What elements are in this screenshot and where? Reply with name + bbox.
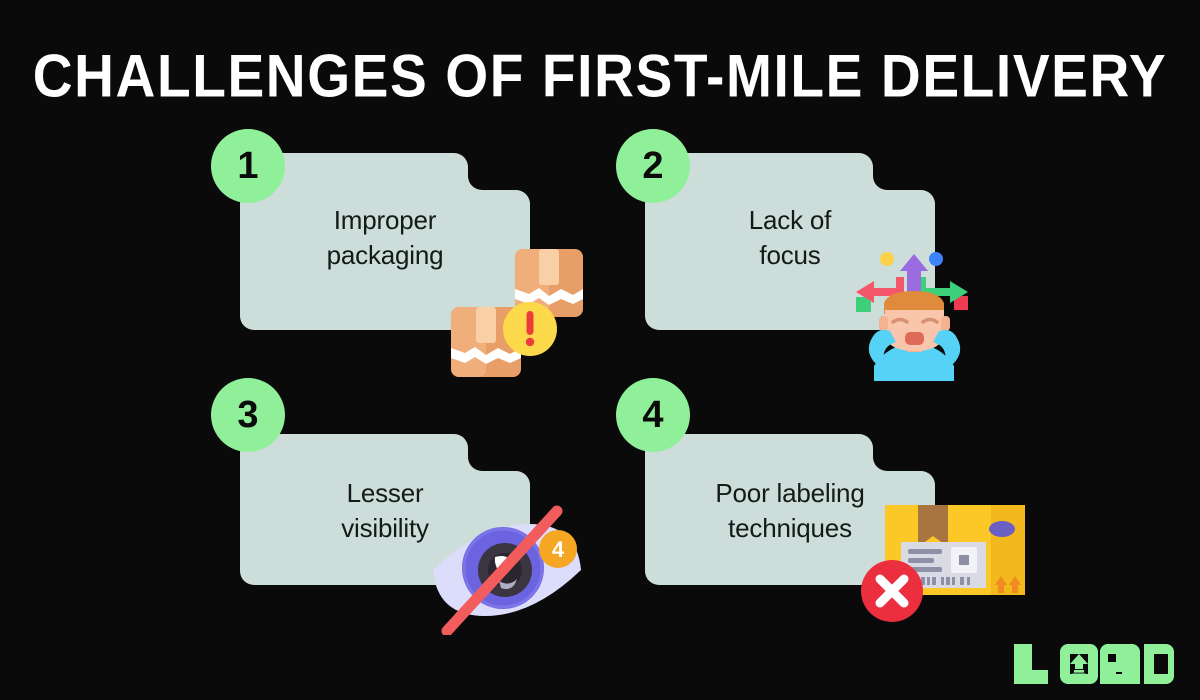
page-title: CHALLENGES OF FIRST-MILE DELIVERY bbox=[0, 42, 1200, 112]
card-3-number: 3 bbox=[237, 394, 258, 437]
card-2-number-badge: 2 bbox=[616, 129, 690, 203]
locad-logo[interactable] bbox=[1012, 642, 1178, 686]
eye-badge-count: 4 bbox=[552, 537, 565, 562]
card-4-number-badge: 4 bbox=[616, 378, 690, 452]
card-1-number-badge: 1 bbox=[211, 129, 285, 203]
card-2-number: 2 bbox=[642, 145, 663, 188]
damaged-boxes-warning-icon bbox=[447, 245, 587, 385]
crossed-out-eye-icon: 4 bbox=[425, 505, 585, 635]
infographic-canvas: CHALLENGES OF FIRST-MILE DELIVERY Improp… bbox=[0, 0, 1200, 700]
card-1-number: 1 bbox=[237, 145, 258, 188]
card-4-number: 4 bbox=[642, 394, 663, 437]
labeled-package-error-icon bbox=[855, 497, 1030, 622]
stressed-person-arrows-icon bbox=[840, 246, 990, 381]
card-3-number-badge: 3 bbox=[211, 378, 285, 452]
